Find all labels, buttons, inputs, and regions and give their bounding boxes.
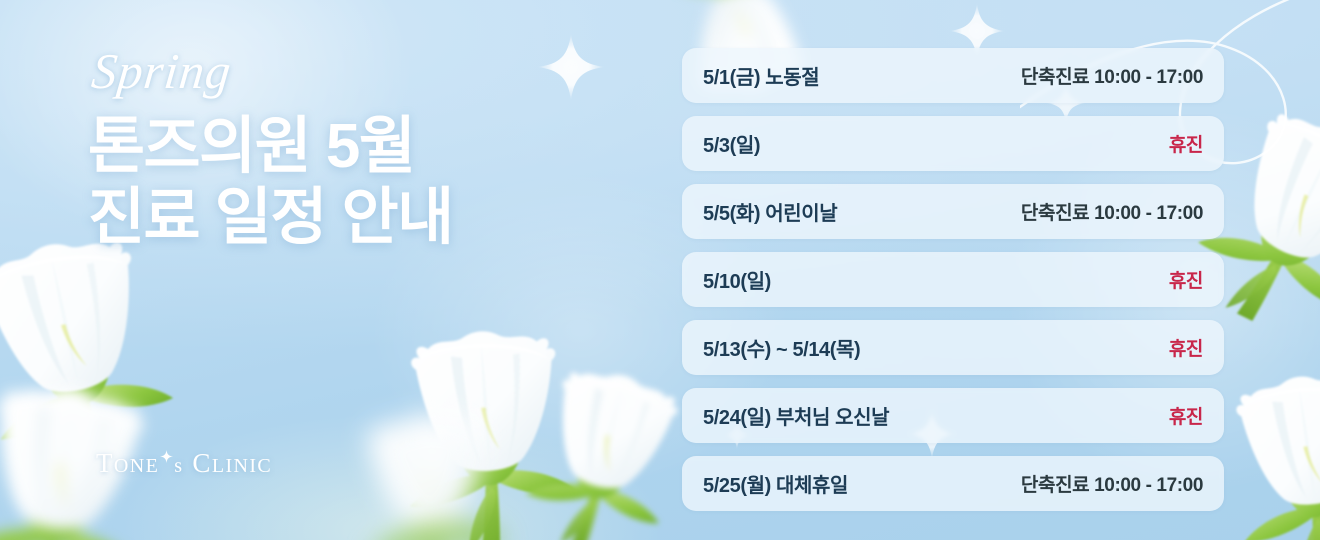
schedule-list: 5/1(금) 노동절단축진료 10:00 - 17:005/3(일)휴진5/5(… xyxy=(682,48,1224,511)
script-accent-word: Spring xyxy=(89,42,234,100)
logo-possessive: s xyxy=(174,455,183,478)
schedule-row[interactable]: 5/13(수) ~ 5/14(목)휴진 xyxy=(682,320,1224,375)
schedule-row[interactable]: 5/1(금) 노동절단축진료 10:00 - 17:00 xyxy=(682,48,1224,103)
schedule-row[interactable]: 5/10(일)휴진 xyxy=(682,252,1224,307)
schedule-row-date: 5/5(화) 어린이날 xyxy=(703,197,837,226)
logo-word1-rest: ONE xyxy=(114,455,159,478)
schedule-row[interactable]: 5/25(월) 대체휴일단축진료 10:00 - 17:00 xyxy=(682,456,1224,511)
schedule-row-date: 5/13(수) ~ 5/14(목) xyxy=(703,333,860,362)
schedule-row-status-hours: 단축진료 10:00 - 17:00 xyxy=(1021,470,1203,497)
schedule-row-date: 5/3(일) xyxy=(703,129,760,158)
schedule-row[interactable]: 5/24(일) 부처님 오신날휴진 xyxy=(682,388,1224,443)
schedule-row[interactable]: 5/3(일)휴진 xyxy=(682,116,1224,171)
schedule-row[interactable]: 5/5(화) 어린이날단축진료 10:00 - 17:00 xyxy=(682,184,1224,239)
schedule-row-status-closed: 휴진 xyxy=(1169,334,1203,361)
logo-word2-rest: LINIC xyxy=(212,455,272,478)
schedule-row-date: 5/1(금) 노동절 xyxy=(703,61,819,90)
schedule-row-status-hours: 단축진료 10:00 - 17:00 xyxy=(1021,198,1203,225)
brand-logo: TONE sCLINIC xyxy=(96,448,272,479)
logo-word1-initial: T xyxy=(96,448,114,479)
schedule-row-date: 5/25(월) 대체휴일 xyxy=(703,469,848,498)
schedule-banner: Spring 톤즈의원 5월 진료 일정 안내 TONE sCLINIC 5/1… xyxy=(0,0,1320,540)
schedule-row-status-closed: 휴진 xyxy=(1169,402,1203,429)
logo-word2-initial: C xyxy=(192,448,211,479)
schedule-row-status-hours: 단축진료 10:00 - 17:00 xyxy=(1021,62,1203,89)
page-title: 톤즈의원 5월 진료 일정 안내 xyxy=(88,112,453,253)
sparkle-icon-logo xyxy=(160,439,173,452)
headline-pane: Spring 톤즈의원 5월 진료 일정 안내 TONE sCLINIC xyxy=(0,0,660,540)
schedule-row-status-closed: 휴진 xyxy=(1169,130,1203,157)
schedule-row-status-closed: 휴진 xyxy=(1169,266,1203,293)
schedule-row-date: 5/24(일) 부처님 오신날 xyxy=(703,401,889,430)
schedule-row-date: 5/10(일) xyxy=(703,265,771,294)
